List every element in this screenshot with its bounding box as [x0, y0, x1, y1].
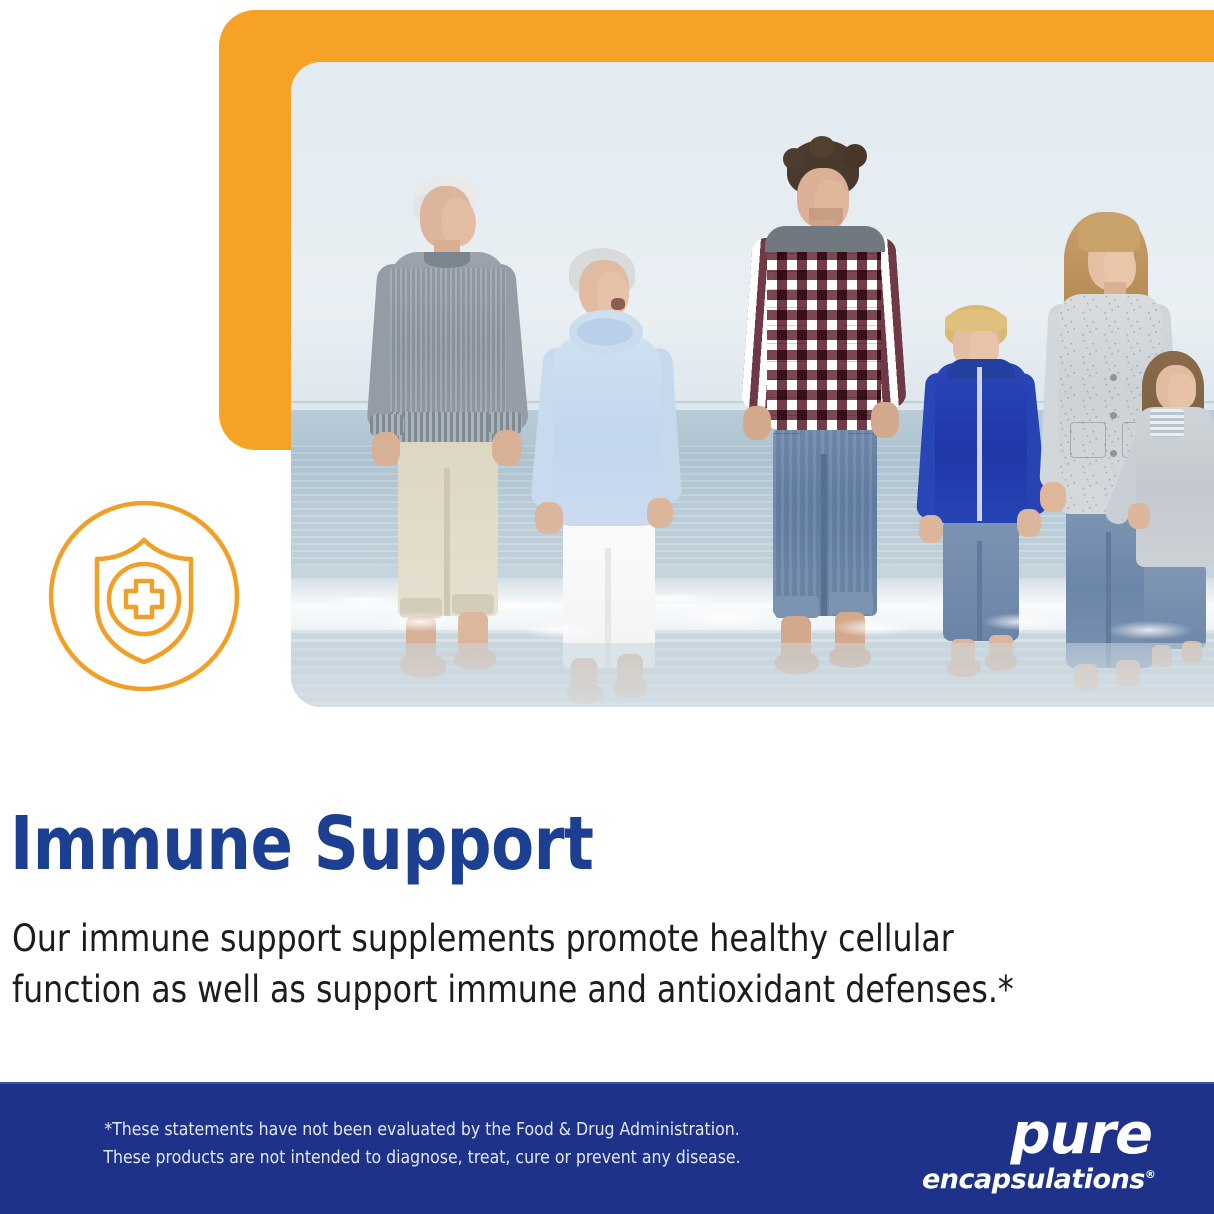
disclaimer-line-2: These products are not intended to diagn… — [42, 1144, 802, 1172]
person-father — [725, 134, 925, 694]
photo-waterline — [291, 643, 1214, 708]
disclaimer-text: *These statements have not been evaluate… — [42, 1116, 802, 1172]
body-copy: Our immune support supplements promote h… — [12, 913, 1048, 1015]
person-grandmother — [513, 218, 698, 688]
registered-trademark-icon: ® — [1145, 1168, 1156, 1181]
footer-bar: *These statements have not been evaluate… — [0, 1082, 1214, 1214]
page-title: Immune Support — [10, 807, 594, 881]
hero-photo — [291, 62, 1214, 707]
logo-word-pure: pure — [922, 1110, 1152, 1160]
brand-logo: pure encapsulations® — [922, 1110, 1152, 1194]
logo-word-encapsulations: encapsulations® — [922, 1160, 1152, 1195]
person-girl — [1112, 345, 1214, 675]
shield-with-medical-cross-icon — [44, 496, 244, 696]
logo-encaps-text: encapsulations — [922, 1164, 1145, 1195]
disclaimer-line-1: *These statements have not been evaluate… — [42, 1116, 802, 1144]
footer-top-rule — [0, 1082, 1214, 1084]
